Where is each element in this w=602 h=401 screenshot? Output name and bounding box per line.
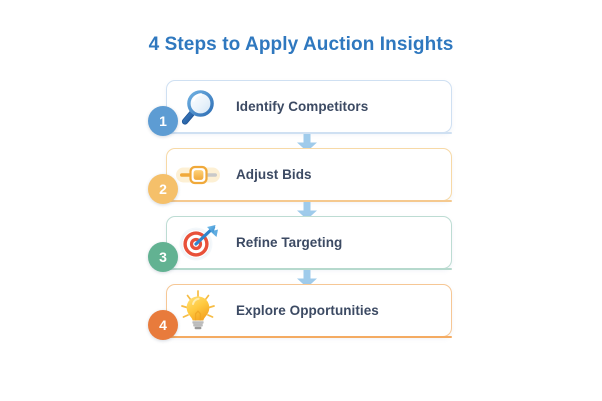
magnifying-glass-icon (174, 83, 222, 131)
step-badge-3: 3 (148, 242, 178, 272)
slider-icon (174, 151, 222, 199)
step-label: Identify Competitors (236, 80, 368, 133)
step-label: Refine Targeting (236, 216, 342, 269)
step-label: Explore Opportunities (236, 284, 379, 337)
step-row[interactable]: Explore Opportunities 4 (166, 284, 454, 339)
lightbulb-icon (174, 287, 222, 335)
step-badge-1: 1 (148, 106, 178, 136)
infographic-canvas: 4 Steps to Apply Auction Insights (0, 0, 602, 401)
step-badge-4: 4 (148, 310, 178, 340)
step-row[interactable]: Refine Targeting 3 (166, 216, 454, 271)
steps-flow: Identify Competitors 1 (166, 80, 454, 339)
arrow-down-icon (166, 135, 454, 148)
target-dart-icon (174, 219, 222, 267)
arrow-down-icon (166, 203, 454, 216)
arrow-down-icon (166, 271, 454, 284)
step-badge-2: 2 (148, 174, 178, 204)
step-row[interactable]: Identify Competitors 1 (166, 80, 454, 135)
page-title: 4 Steps to Apply Auction Insights (0, 34, 602, 56)
step-row[interactable]: Adjust Bids 2 (166, 148, 454, 203)
step-label: Adjust Bids (236, 148, 312, 201)
